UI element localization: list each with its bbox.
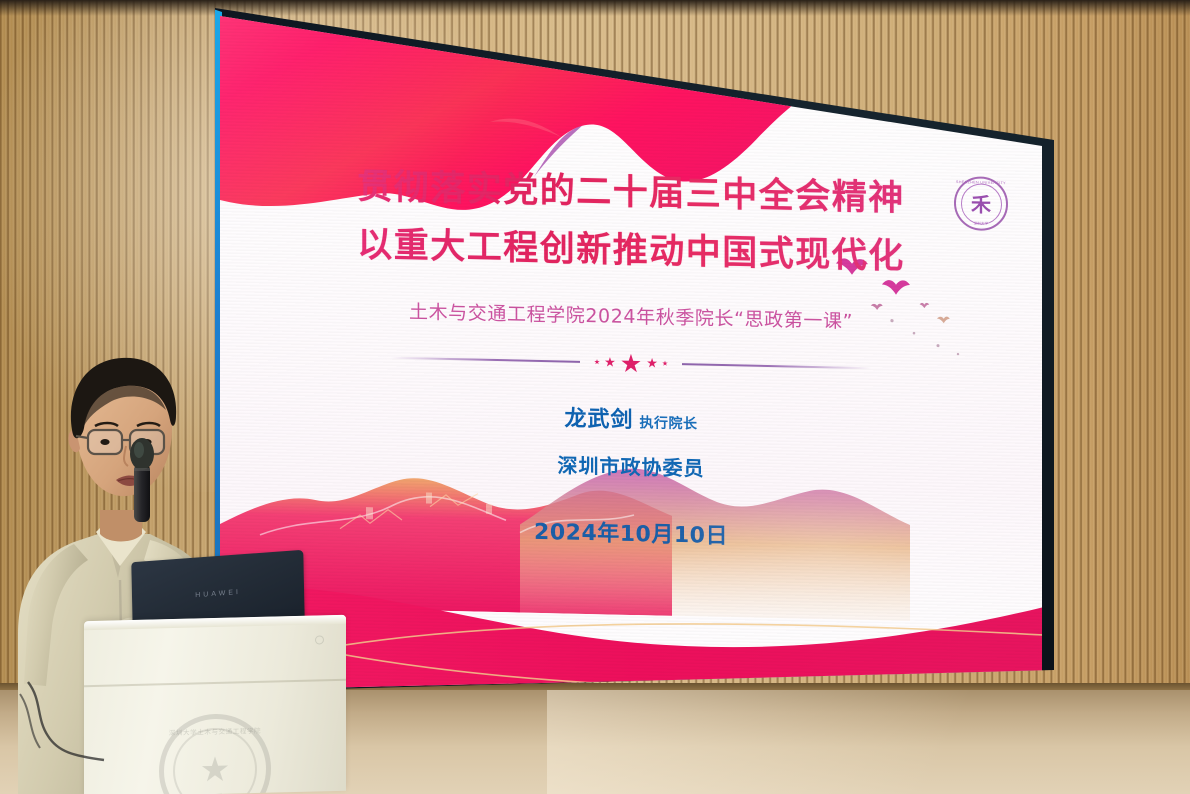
star-icon-1: ★ xyxy=(594,359,600,366)
star-divider: ★ ★ ★ ★ ★ xyxy=(391,345,871,380)
presenter-and-lectern: HUAWEI 深圳大学土木与交通工程学院 ★ xyxy=(0,274,360,794)
divider-rule-left xyxy=(391,357,580,363)
speaker-organization: 深圳市政协委员 xyxy=(534,448,728,481)
star-icon-4: ★ xyxy=(646,357,658,370)
divider-rule-right xyxy=(682,363,871,369)
floor-reflection xyxy=(547,690,1190,794)
lectern-panel-seam xyxy=(84,679,346,687)
speaker-name-row: 龙武剑执行院长 xyxy=(534,399,728,435)
slide-subtitle: 土木与交通工程学院2024年秋季院长“思政第一课” xyxy=(409,297,853,334)
ceiling-shadow xyxy=(0,0,1190,16)
slide-date: 2024年10月10日 xyxy=(534,513,728,549)
speaker-role: 执行院长 xyxy=(640,415,698,432)
star-icon-3: ★ xyxy=(620,350,642,375)
slide-title-line-2: 以重大工程创新推动中国式现代化 xyxy=(357,221,905,281)
lectern-button-icon xyxy=(315,635,324,644)
star-icon-5: ★ xyxy=(662,360,668,367)
divider-stars: ★ ★ ★ ★ ★ xyxy=(580,349,682,376)
speaker-info-block: 龙武剑执行院长 深圳市政协委员 2024年10月10日 xyxy=(534,399,728,549)
emblem-inner-ring xyxy=(173,727,257,794)
speaker-name: 龙武剑 xyxy=(564,406,633,433)
slide-title-line-1: 贯彻落实党的二十届三中全会精神 xyxy=(357,163,905,223)
star-icon-2: ★ xyxy=(604,356,616,369)
auditorium-scene: SHENZHEN UNIVERSITY 禾 深圳大学 xyxy=(0,0,1190,794)
handheld-microphone[interactable] xyxy=(124,430,160,526)
lectern-college-emblem: 深圳大学土木与交通工程学院 ★ xyxy=(159,713,271,794)
lectern: 深圳大学土木与交通工程学院 ★ xyxy=(84,615,346,794)
emblem-text: 深圳大学土木与交通工程学院 xyxy=(164,725,266,737)
